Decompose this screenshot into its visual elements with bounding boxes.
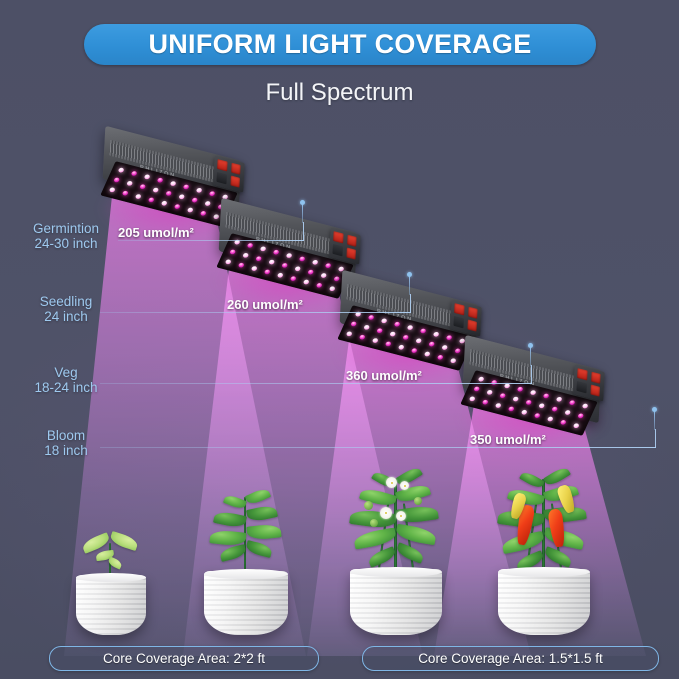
- plant-leaf: [109, 531, 139, 551]
- plant-pot: [76, 575, 146, 635]
- plant-flower: [380, 507, 392, 519]
- coverage-label: Core Coverage Area: 2*2 ft: [103, 651, 265, 666]
- pot-texture: [350, 569, 442, 635]
- stage-name: Germintion: [12, 221, 120, 236]
- pot-rim: [204, 569, 288, 579]
- drop-dot-2: [407, 272, 412, 277]
- drop-line-4: [654, 410, 655, 430]
- plant-pot: [498, 569, 590, 635]
- plant-germination: [56, 515, 166, 635]
- plant-bud: [414, 497, 422, 505]
- leader-cap-1: [303, 222, 304, 241]
- leader-cap-2: [410, 294, 411, 313]
- pot-texture: [498, 569, 590, 635]
- stage-name: Bloom: [12, 428, 120, 443]
- plant-leaf: [219, 544, 247, 562]
- leader-cap-3: [531, 365, 532, 384]
- plant-bud: [364, 501, 373, 510]
- plant-bloom: [478, 463, 608, 635]
- drop-line-2: [409, 275, 410, 295]
- drop-dot-1: [300, 200, 305, 205]
- pot-rim: [76, 573, 146, 582]
- pot-rim: [498, 567, 590, 577]
- leader-line-2: [100, 312, 411, 313]
- led-panel-4: PHLIZON: [464, 352, 616, 440]
- pot-rim: [350, 567, 442, 577]
- ppfd-value-3: 360 umol/m²: [346, 368, 422, 383]
- plant-bud: [370, 519, 378, 527]
- stage-distance: 18 inch: [12, 443, 120, 458]
- drop-line-1: [302, 203, 303, 223]
- stage-distance: 24-30 inch: [12, 236, 120, 251]
- header-title-pill: UNIFORM LIGHT COVERAGE: [84, 24, 596, 65]
- plant-pot: [204, 571, 288, 635]
- ppfd-value-1: 205 umol/m²: [118, 225, 194, 240]
- drop-dot-4: [652, 407, 657, 412]
- coverage-label: Core Coverage Area: 1.5*1.5 ft: [418, 651, 603, 666]
- plant-flower: [396, 511, 406, 521]
- drop-dot-3: [528, 343, 533, 348]
- plant-flower: [400, 481, 409, 490]
- coverage-pill-right: Core Coverage Area: 1.5*1.5 ft: [362, 646, 659, 671]
- ppfd-value-4: 350 umol/m²: [470, 432, 546, 447]
- stage-label-germination: Germintion 24-30 inch: [12, 221, 120, 251]
- plant-leaf: [246, 504, 278, 523]
- plant-leaf: [213, 510, 247, 529]
- plant-leaf: [245, 487, 271, 507]
- stage-label-bloom: Bloom 18 inch: [12, 428, 120, 458]
- pot-texture: [204, 571, 288, 635]
- page-subtitle: Full Spectrum: [0, 79, 679, 107]
- pot-texture: [76, 575, 146, 635]
- plant-veg: [330, 463, 460, 635]
- drop-line-3: [530, 346, 531, 366]
- leader-cap-4: [655, 429, 656, 448]
- plant-seedling: [186, 487, 306, 635]
- infographic-root: UNIFORM LIGHT COVERAGE Full Spectrum PHL…: [0, 0, 679, 679]
- plant-leaf: [245, 540, 273, 558]
- stage-label-veg: Veg 18-24 inch: [12, 365, 120, 395]
- stage-name: Veg: [12, 365, 120, 380]
- stage-name: Seedling: [12, 294, 120, 309]
- page-title: UNIFORM LIGHT COVERAGE: [148, 29, 531, 60]
- leader-line-1: [118, 240, 304, 241]
- plant-leaf: [246, 523, 281, 540]
- stage-label-seedling: Seedling 24 inch: [12, 294, 120, 324]
- plant-pot: [350, 569, 442, 635]
- plant-leaf: [367, 546, 397, 568]
- ppfd-value-2: 260 umol/m²: [227, 297, 303, 312]
- coverage-pill-left: Core Coverage Area: 2*2 ft: [49, 646, 319, 671]
- leader-line-4: [100, 447, 656, 448]
- leader-line-3: [100, 383, 532, 384]
- plant-flower: [386, 477, 397, 488]
